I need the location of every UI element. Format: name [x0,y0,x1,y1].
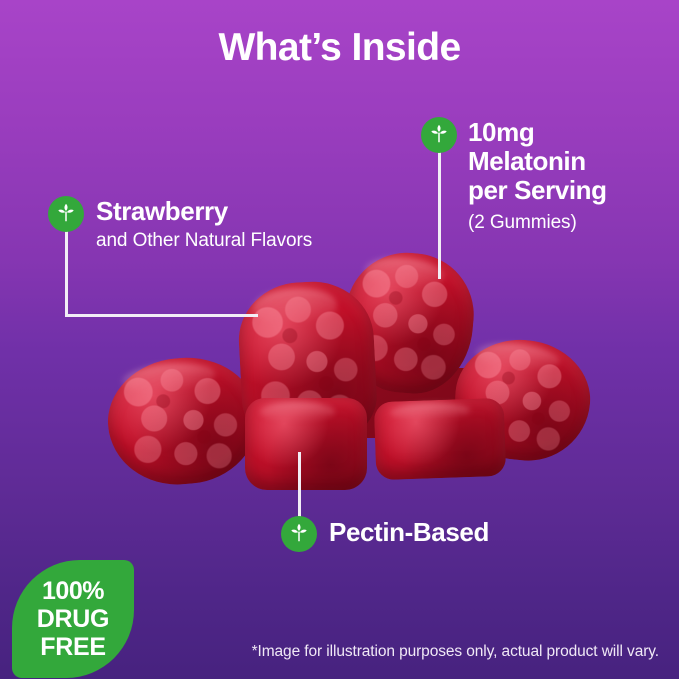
gummy-piece-cube-front-right [374,398,507,480]
connector-line-strawberry [65,212,258,317]
callout-subtitle-melatonin: (2 Gummies) [468,212,577,234]
callout-title-melatonin-line-1: 10mg [468,118,534,147]
drug-free-badge-line-3: FREE [40,635,105,660]
disclaimer-text: *Image for illustration purposes only, a… [252,643,659,661]
connector-line-pectin [298,452,301,522]
callout-title-melatonin-line-2: Melatonin [468,147,586,176]
leaf-sprout-icon-melatonin [421,117,457,153]
gummy-piece-cube-front-left [245,398,367,490]
callout-subtitle-strawberry: and Other Natural Flavors [96,230,312,252]
callout-title-strawberry: Strawberry [96,197,228,226]
callout-title-melatonin-line-3: per Serving [468,176,607,205]
callout-title-pectin: Pectin-Based [329,518,489,547]
leaf-sprout-icon-pectin [281,516,317,552]
leaf-sprout-icon-strawberry [48,196,84,232]
infographic-canvas: What’s Inside Strawberry and Other Natur… [0,0,679,679]
drug-free-badge-line-1: 100% [42,579,104,604]
gummy-piece-round-disc-left [103,352,263,491]
drug-free-badge-line-2: DRUG [37,607,109,632]
connector-line-melatonin [438,152,441,279]
